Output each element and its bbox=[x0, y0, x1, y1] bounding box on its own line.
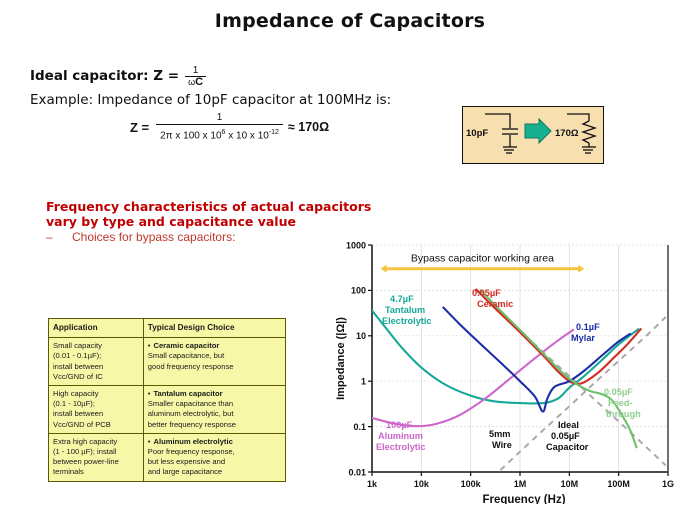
choice-body-line: Poor frequency response, bbox=[148, 447, 281, 457]
series-inline-label: Ceramic bbox=[477, 299, 513, 309]
table-body: Small capacity (0.01 - 0.1µF); install b… bbox=[49, 338, 286, 481]
series-inline-label: Electrolytic bbox=[376, 442, 426, 452]
series-inline-label: Mylar bbox=[571, 333, 595, 343]
example-denominator: 2π x 100 x 106 x 10 x 10-12 bbox=[156, 125, 283, 142]
y-tick-label: 10 bbox=[356, 331, 366, 341]
impedance-chart-svg: 0.010.111010010001k10k100k1M10M100M1GFre… bbox=[332, 236, 680, 504]
app-line: install between bbox=[53, 362, 139, 372]
example-fraction: 1 2π x 100 x 106 x 10 x 10-12 bbox=[156, 112, 283, 143]
bullet-icon: • bbox=[148, 389, 151, 399]
choice-body-line: better frequency response bbox=[148, 420, 281, 430]
app-line: (0.1 - 10µF); bbox=[53, 399, 139, 409]
bullet-icon: • bbox=[148, 341, 151, 351]
y-tick-label: 1000 bbox=[346, 240, 366, 250]
app-line: (1 - 100 µF); install bbox=[53, 447, 139, 457]
section-heading: Frequency characteristics of actual capa… bbox=[46, 200, 376, 229]
subheading-dash: – bbox=[46, 230, 72, 244]
table-row: Extra high capacity (1 - 100 µF); instal… bbox=[49, 433, 286, 481]
section-heading-line-1: Frequency characteristics of actual capa… bbox=[46, 200, 376, 215]
section-subheading: –Choices for bypass capacitors: bbox=[46, 230, 376, 244]
x-tick-label: 100k bbox=[461, 479, 482, 489]
app-line: Small capacity bbox=[53, 341, 139, 351]
choice-body-line: good frequency response bbox=[148, 362, 281, 372]
choice-heading: • Ceramic capacitor bbox=[148, 341, 281, 351]
app-line: install between bbox=[53, 409, 139, 419]
capacitance-symbol: C bbox=[195, 76, 203, 88]
x-tick-label: 1M bbox=[514, 479, 527, 489]
denominator-part-1: 2π x 100 x 10 bbox=[160, 131, 221, 142]
series-inline-label: Feed- bbox=[608, 398, 633, 408]
slide-canvas: Impedance of Capacitors Ideal capacitor:… bbox=[0, 0, 700, 508]
x-tick-label: 1k bbox=[367, 479, 378, 489]
choice-heading: • Aluminum electrolytic bbox=[148, 437, 281, 447]
series-inline-label: Wire bbox=[492, 440, 512, 450]
table-cell-choice: • Tantalum capacitor Smaller capacitance… bbox=[143, 386, 285, 434]
x-tick-label: 1G bbox=[662, 479, 674, 489]
capacitor-symbol bbox=[485, 114, 518, 153]
series-inline-label: 0.05µF bbox=[604, 387, 633, 397]
annotation-bar-label: Bypass capacitor working area bbox=[411, 253, 554, 265]
y-tick-label: 0.1 bbox=[353, 422, 366, 432]
series-inline-label: through bbox=[606, 409, 641, 419]
resistor-value-label: 170Ω bbox=[555, 128, 579, 139]
ideal-capacitor-formula: Ideal capacitor: Z = 1 ωC Example: Imped… bbox=[30, 65, 390, 108]
example-numerator: 1 bbox=[217, 112, 223, 124]
choice-title: Tantalum capacitor bbox=[153, 389, 222, 399]
choice-title: Ceramic capacitor bbox=[153, 341, 219, 351]
series-inline-label: Tantalum bbox=[385, 305, 425, 315]
choice-body-line: aluminum electrolytic, but bbox=[148, 409, 281, 419]
table-header-row: Application Typical Design Choice bbox=[49, 319, 286, 338]
example-line: Example: Impedance of 10pF capacitor at … bbox=[30, 92, 390, 108]
choice-heading: • Tantalum capacitor bbox=[148, 389, 281, 399]
z-equals-label: Z = bbox=[130, 120, 149, 135]
table-header-choice: Typical Design Choice bbox=[143, 319, 285, 338]
bullet-icon: • bbox=[148, 437, 151, 447]
annotation-arrow-right-icon bbox=[578, 265, 584, 273]
choice-body-line: but less expensive and bbox=[148, 457, 281, 467]
series-inline-label: 4.7µF bbox=[390, 294, 414, 304]
choice-body-line: and large capacitance bbox=[148, 467, 281, 477]
table-header-application: Application bbox=[49, 319, 144, 338]
series-inline-label: Aluminum bbox=[378, 431, 423, 441]
series-inline-label: Electrolytic bbox=[382, 316, 432, 326]
app-line: Vcc/GND of IC bbox=[53, 372, 139, 382]
x-tick-label: 10M bbox=[561, 479, 579, 489]
table-cell-choice: • Ceramic capacitor Small capacitance, b… bbox=[143, 338, 285, 386]
x-tick-label: 100M bbox=[607, 479, 630, 489]
y-tick-label: 1 bbox=[361, 377, 366, 387]
impedance-frequency-chart: 0.010.111010010001k10k100k1M10M100M1GFre… bbox=[332, 236, 680, 504]
example-result: ≈ 170Ω bbox=[288, 120, 329, 134]
capacitor-value-label: 10pF bbox=[466, 128, 488, 139]
choice-body-line: Smaller capacitance than bbox=[148, 399, 281, 409]
capacitor-choice-table: Application Typical Design Choice Small … bbox=[48, 318, 286, 482]
subheading-text: Choices for bypass capacitors: bbox=[72, 230, 235, 244]
table-cell-application: High capacity (0.1 - 10µF); install betw… bbox=[49, 386, 144, 434]
ideal-capacitor-lead: Ideal capacitor: Z = bbox=[30, 68, 179, 84]
denominator-part-2: x 10 x 10 bbox=[225, 131, 268, 142]
bypass-working-area-annotation: Bypass capacitor working area bbox=[381, 253, 584, 273]
section-heading-line-2: vary by type and capacitance value bbox=[46, 215, 376, 230]
circuit-diagram-svg: 10pF 170Ω bbox=[463, 107, 600, 160]
choice-body-line: Small capacitance, but bbox=[148, 351, 281, 361]
table-head: Application Typical Design Choice bbox=[49, 319, 286, 338]
table-cell-application: Extra high capacity (1 - 100 µF); instal… bbox=[49, 433, 144, 481]
x-tick-label: 10k bbox=[414, 479, 430, 489]
worked-example-formula: Z = 1 2π x 100 x 106 x 10 x 10-12 ≈ 170Ω bbox=[130, 112, 329, 143]
app-line: terminals bbox=[53, 467, 139, 477]
page-title: Impedance of Capacitors bbox=[0, 10, 700, 32]
x-axis-title: Frequency (Hz) bbox=[482, 494, 565, 504]
choice-title: Aluminum electrolytic bbox=[153, 437, 232, 447]
table-row: Small capacity (0.01 - 0.1µF); install b… bbox=[49, 338, 286, 386]
series-inline-label: 0.05µF bbox=[551, 431, 580, 441]
equivalence-arrow-icon bbox=[525, 119, 551, 143]
app-line: Vcc/GND of PCB bbox=[53, 420, 139, 430]
series-inline-label: 0.1µF bbox=[576, 322, 600, 332]
y-tick-label: 100 bbox=[351, 286, 366, 296]
denominator-exponent-2: -12 bbox=[269, 129, 279, 136]
fraction-denominator: ωC bbox=[185, 77, 206, 88]
y-axis-title: Impedance (|Ω|) bbox=[335, 317, 347, 400]
omega-c-fraction: 1 ωC bbox=[185, 66, 206, 88]
series-inline-label: Ideal bbox=[558, 420, 579, 430]
table-cell-application: Small capacity (0.01 - 0.1µF); install b… bbox=[49, 338, 144, 386]
ideal-capacitor-line: Ideal capacitor: Z = 1 ωC bbox=[30, 65, 390, 87]
table-row: High capacity (0.1 - 10µF); install betw… bbox=[49, 386, 286, 434]
annotation-arrow-left-icon bbox=[381, 265, 387, 273]
series-inline-label: 5mm bbox=[489, 429, 510, 439]
app-line: High capacity bbox=[53, 389, 139, 399]
app-line: Extra high capacity bbox=[53, 437, 139, 447]
circuit-diagram: 10pF 170Ω bbox=[462, 106, 604, 164]
series-inline-label: Capacitor bbox=[546, 442, 589, 452]
app-line: between power-line bbox=[53, 457, 139, 467]
series-inline-label: 100µF bbox=[386, 420, 413, 430]
table-cell-choice: • Aluminum electrolytic Poor frequency r… bbox=[143, 433, 285, 481]
series-inline-label: 0.05µF bbox=[472, 288, 501, 298]
app-line: (0.01 - 0.1µF); bbox=[53, 351, 139, 361]
y-tick-label: 0.01 bbox=[348, 467, 366, 477]
fraction-numerator: 1 bbox=[189, 66, 203, 76]
